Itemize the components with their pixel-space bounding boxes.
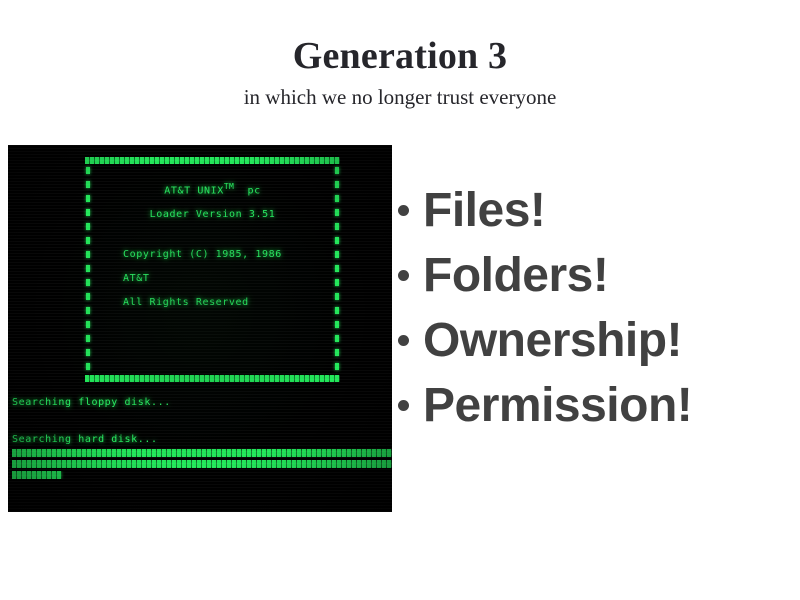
bullet-dot-icon — [398, 335, 409, 346]
progress-row-3 — [12, 471, 392, 479]
boot-message-box: AT&T UNIXTM pc Loader Version 3.51 Copyr… — [85, 157, 340, 382]
copyright-line: Copyright (C) 1985, 1986 — [85, 249, 340, 261]
list-item: Folders! — [398, 243, 794, 308]
brand-line: AT&T UNIXTM pc — [85, 183, 340, 197]
box-border-top — [85, 157, 340, 164]
list-item-label: Ownership! — [423, 315, 682, 367]
status-hard-line: Searching hard disk... — [12, 434, 392, 446]
list-item: Ownership! — [398, 308, 794, 373]
feature-bullet-list: Files! Folders! Ownership! Permission! — [398, 178, 794, 438]
bullet-dot-icon — [398, 270, 409, 281]
terminal-screenshot: AT&T UNIXTM pc Loader Version 3.51 Copyr… — [8, 145, 392, 512]
brand-suffix: pc — [248, 185, 261, 196]
brand-name: AT&T UNIX — [164, 185, 224, 196]
page-title: Generation 3 — [0, 34, 800, 78]
list-item-label: Files! — [423, 185, 545, 237]
list-item-label: Permission! — [423, 380, 692, 432]
progress-row-1 — [12, 449, 392, 457]
status-floppy-line: Searching floppy disk... — [12, 397, 392, 409]
slide-header: Generation 3 in which we no longer trust… — [0, 34, 800, 110]
trademark-mark: TM — [224, 182, 234, 191]
list-item: Permission! — [398, 373, 794, 438]
list-item: Files! — [398, 178, 794, 243]
bullet-dot-icon — [398, 205, 409, 216]
list-item-label: Folders! — [423, 250, 608, 302]
progress-row-2 — [12, 460, 392, 468]
boot-text-block: AT&T UNIXTM pc Loader Version 3.51 Copyr… — [85, 183, 340, 309]
rights-line: All Rights Reserved — [85, 297, 340, 309]
loader-version-line: Loader Version 3.51 — [85, 209, 340, 221]
box-border-bottom — [85, 375, 340, 382]
bullet-dot-icon — [398, 400, 409, 411]
boot-status-block: Searching floppy disk... Searching hard … — [12, 397, 392, 479]
company-line: AT&T — [85, 273, 340, 285]
page-subtitle: in which we no longer trust everyone — [0, 84, 800, 110]
